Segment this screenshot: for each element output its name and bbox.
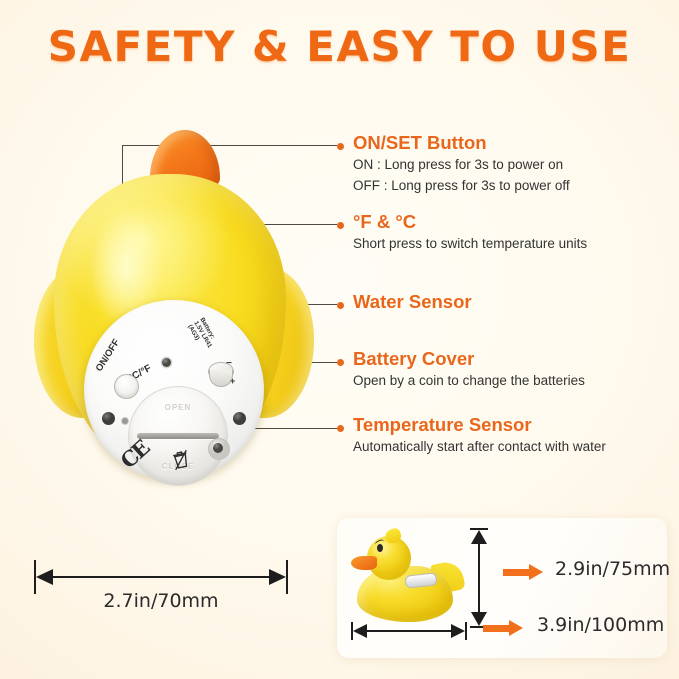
callout-line-battery-cover: Open by a coin to change the batteries	[353, 372, 585, 391]
dimension-height	[470, 528, 488, 628]
callout-water-sensor: Water Sensor	[337, 291, 472, 313]
arrow-shaft	[503, 569, 531, 576]
control-panel-disc: ON/OFF °C/°F Battery:1.5V LR41(AG3) − + …	[84, 300, 264, 480]
callout-title-battery-cover: Battery Cover	[353, 348, 585, 370]
dimension-length	[351, 622, 467, 640]
dimension-tick-right	[286, 560, 288, 594]
callout-bullet-f-and-c	[337, 222, 344, 229]
callout-bullet-temperature-sensor	[337, 425, 344, 432]
duck-side-body	[357, 566, 453, 622]
callout-bullet-battery-cover	[337, 359, 344, 366]
orange-arrow-height	[503, 566, 545, 576]
orange-arrow-length	[483, 622, 525, 632]
cover-open-label: OPEN	[129, 403, 227, 412]
length-arrow-right	[451, 624, 465, 638]
dimension-line	[42, 576, 280, 578]
callout-line-off: OFF : Long press for 3s to power off	[353, 177, 570, 196]
callout-line-temperature-sensor: Automatically start after contact with w…	[353, 438, 606, 457]
dimension-arrow-right	[269, 569, 286, 585]
length-tick-right	[465, 622, 467, 640]
onoff-label: ON/OFF	[94, 337, 122, 373]
callout-battery-cover: Battery Cover Open by a coin to change t…	[337, 348, 585, 391]
duck-thermometer-side-view	[355, 532, 459, 624]
dimension-width: 2.7in/70mm	[34, 560, 288, 616]
panel-contact-right	[233, 412, 246, 425]
coin-slot	[137, 433, 219, 439]
polarity-plus-label: +	[230, 376, 235, 386]
battery-cover[interactable]: OPEN CLOSE	[128, 386, 228, 486]
height-line	[478, 534, 480, 622]
inset-height-label: 2.9in/75mm	[555, 558, 670, 580]
callout-title-temperature-sensor: Temperature Sensor	[353, 414, 606, 436]
height-arrow-up	[471, 530, 487, 544]
callout-temperature-sensor: Temperature Sensor Automatically start a…	[337, 414, 606, 457]
length-line	[355, 630, 463, 632]
callout-title-water-sensor: Water Sensor	[353, 291, 472, 313]
inset-length-label: 3.9in/100mm	[537, 614, 664, 636]
onoff-button[interactable]	[114, 374, 139, 399]
callout-on-set-button: ON/SET Button ON : Long press for 3s to …	[337, 132, 570, 195]
callout-title-on-set: ON/SET Button	[353, 132, 570, 154]
callout-bullet-on-set	[337, 143, 344, 150]
size-inset-card: 2.9in/75mm 3.9in/100mm	[337, 518, 667, 658]
length-arrow-left	[353, 624, 367, 638]
duck-thermometer-rear-view: ON/OFF °C/°F Battery:1.5V LR41(AG3) − + …	[28, 128, 318, 473]
page-title: SAFETY & EASY TO USE	[0, 22, 679, 71]
callout-f-and-c: °F & °C Short press to switch temperatur…	[337, 211, 587, 254]
panel-contact-left	[102, 412, 115, 425]
water-sensor-contact	[162, 358, 171, 367]
polarity-minus-label: −	[226, 358, 232, 369]
temperature-sensor-probe	[208, 438, 230, 460]
callout-title-f-and-c: °F & °C	[353, 211, 587, 233]
dimension-arrow-left	[36, 569, 53, 585]
panel-pinhole	[122, 418, 128, 424]
battery-spec-label: Battery:1.5V LR41(AG3)	[186, 316, 219, 352]
callout-line-on: ON : Long press for 3s to power on	[353, 156, 570, 175]
callout-line-f-and-c: Short press to switch temperature units	[353, 235, 587, 254]
callout-bullet-water-sensor	[337, 302, 344, 309]
dimension-width-label: 2.7in/70mm	[34, 590, 288, 612]
arrow-head	[529, 564, 543, 580]
polarity-screw-icon: − +	[206, 362, 234, 388]
duck-side-beak	[351, 556, 377, 570]
infographic-canvas: SAFETY & EASY TO USE ON/OFF °C/°F Batter…	[0, 0, 679, 679]
arrow-head	[509, 620, 523, 636]
weee-bin-icon	[170, 448, 192, 471]
arrow-shaft	[483, 625, 511, 632]
